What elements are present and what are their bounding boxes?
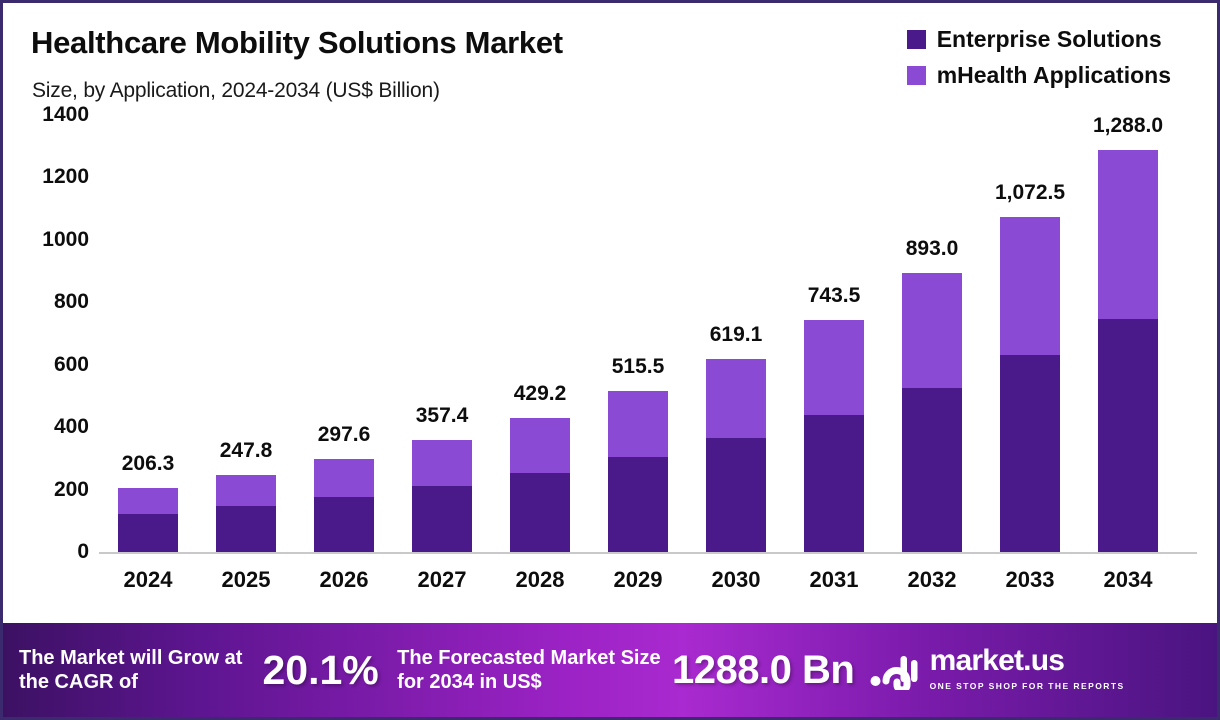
bar-group: 743.5 xyxy=(785,115,883,552)
logo-tagline: ONE STOP SHOP FOR THE REPORTS xyxy=(930,681,1125,691)
bar-group: 357.4 xyxy=(393,115,491,552)
bar-group: 893.0 xyxy=(883,115,981,552)
market-us-bars-icon xyxy=(869,650,921,690)
stacked-bar[interactable] xyxy=(1000,217,1060,552)
y-axis-tick: 0 xyxy=(3,540,89,564)
bar-total-label: 893.0 xyxy=(883,237,981,261)
bar-segment-mhealth-applications[interactable] xyxy=(706,359,766,438)
bar-total-label: 357.4 xyxy=(393,404,491,428)
forecast-size-value: 1288.0 Bn xyxy=(662,648,865,693)
bar-group: 206.3 xyxy=(99,115,197,552)
stacked-bar[interactable] xyxy=(118,488,178,552)
y-axis-tick: 1000 xyxy=(3,228,89,252)
cagr-caption: The Market will Grow at the CAGR of xyxy=(19,646,250,695)
bar-group: 619.1 xyxy=(687,115,785,552)
logo-name: market.us xyxy=(930,644,1065,677)
chart-infographic: Healthcare Mobility Solutions Market Siz… xyxy=(0,0,1220,720)
bar-segment-mhealth-applications[interactable] xyxy=(608,391,668,457)
bar-segment-enterprise-solutions[interactable] xyxy=(510,473,570,552)
bar-total-label: 206.3 xyxy=(99,452,197,476)
stacked-bar[interactable] xyxy=(412,440,472,552)
y-axis-tick: 800 xyxy=(3,290,89,314)
bar-segment-enterprise-solutions[interactable] xyxy=(314,497,374,552)
bar-segment-enterprise-solutions[interactable] xyxy=(608,457,668,552)
bar-total-label: 743.5 xyxy=(785,284,883,308)
bar-total-label: 429.2 xyxy=(491,382,589,406)
bar-segment-enterprise-solutions[interactable] xyxy=(216,506,276,552)
bar-segment-enterprise-solutions[interactable] xyxy=(118,514,178,552)
market-us-wordmark: market.us ONE STOP SHOP FOR THE REPORTS xyxy=(930,646,1217,694)
x-axis-tick: 2031 xyxy=(785,567,883,593)
bar-group: 297.6 xyxy=(295,115,393,552)
x-axis-tick: 2033 xyxy=(981,567,1079,593)
stacked-bar[interactable] xyxy=(902,273,962,552)
x-axis-tick: 2027 xyxy=(393,567,491,593)
bar-segment-mhealth-applications[interactable] xyxy=(1098,150,1158,319)
bar-total-label: 297.6 xyxy=(295,423,393,447)
legend-label-mhealth-applications: mHealth Applications xyxy=(937,62,1171,89)
bar-group: 515.5 xyxy=(589,115,687,552)
cagr-value: 20.1% xyxy=(250,647,391,694)
stacked-bar[interactable] xyxy=(510,418,570,552)
chart-legend: Enterprise Solutions mHealth Application… xyxy=(907,21,1171,93)
bar-group: 429.2 xyxy=(491,115,589,552)
bar-segment-mhealth-applications[interactable] xyxy=(216,475,276,507)
bar-group: 1,072.5 xyxy=(981,115,1079,552)
y-axis-tick: 200 xyxy=(3,478,89,502)
page-title: Healthcare Mobility Solutions Market xyxy=(31,25,563,61)
x-axis-tick: 2030 xyxy=(687,567,785,593)
x-axis-tick: 2026 xyxy=(295,567,393,593)
y-axis-tick: 400 xyxy=(3,415,89,439)
x-axis-tick: 2025 xyxy=(197,567,295,593)
stacked-bar[interactable] xyxy=(314,459,374,552)
bar-segment-enterprise-solutions[interactable] xyxy=(1000,355,1060,552)
bar-segment-mhealth-applications[interactable] xyxy=(510,418,570,473)
y-axis-tick: 1200 xyxy=(3,165,89,189)
footer-banner: The Market will Grow at the CAGR of 20.1… xyxy=(3,623,1217,717)
x-axis-tick: 2028 xyxy=(491,567,589,593)
stacked-bar[interactable] xyxy=(1098,150,1158,552)
bar-segment-mhealth-applications[interactable] xyxy=(902,273,962,388)
bar-group: 1,288.0 xyxy=(1079,115,1177,552)
bar-segment-mhealth-applications[interactable] xyxy=(1000,217,1060,355)
market-us-logo[interactable]: market.us ONE STOP SHOP FOR THE REPORTS xyxy=(869,646,1217,694)
legend-item-mhealth-applications[interactable]: mHealth Applications xyxy=(907,57,1171,93)
bar-segment-enterprise-solutions[interactable] xyxy=(1098,319,1158,552)
bar-total-label: 247.8 xyxy=(197,439,295,463)
bar-total-label: 515.5 xyxy=(589,355,687,379)
y-axis-tick: 1400 xyxy=(3,103,89,127)
bar-group: 247.8 xyxy=(197,115,295,552)
stacked-bar[interactable] xyxy=(216,475,276,552)
bar-segment-enterprise-solutions[interactable] xyxy=(706,438,766,552)
bar-segment-mhealth-applications[interactable] xyxy=(412,440,472,486)
stacked-bar[interactable] xyxy=(804,320,864,552)
x-axis-tick: 2034 xyxy=(1079,567,1177,593)
legend-item-enterprise-solutions[interactable]: Enterprise Solutions xyxy=(907,21,1171,57)
chart-header: Healthcare Mobility Solutions Market Siz… xyxy=(3,3,1217,115)
bar-segment-mhealth-applications[interactable] xyxy=(314,459,374,497)
stacked-bar[interactable] xyxy=(608,391,668,552)
bar-segment-enterprise-solutions[interactable] xyxy=(804,415,864,552)
x-axis-tick: 2032 xyxy=(883,567,981,593)
legend-swatch-mhealth-applications xyxy=(907,66,926,85)
chart-plot-area: 0200400600800100012001400 206.3247.8297.… xyxy=(3,115,1217,603)
legend-swatch-enterprise-solutions xyxy=(907,30,926,49)
bar-segment-mhealth-applications[interactable] xyxy=(804,320,864,415)
x-axis-tick: 2029 xyxy=(589,567,687,593)
chart-subtitle: Size, by Application, 2024-2034 (US$ Bil… xyxy=(32,79,440,103)
bar-segment-enterprise-solutions[interactable] xyxy=(412,486,472,552)
bar-segment-mhealth-applications[interactable] xyxy=(118,488,178,514)
bar-total-label: 1,072.5 xyxy=(981,181,1079,205)
forecast-size-caption: The Forecasted Market Size for 2034 in U… xyxy=(397,646,662,695)
bar-segment-enterprise-solutions[interactable] xyxy=(902,388,962,552)
legend-label-enterprise-solutions: Enterprise Solutions xyxy=(937,26,1162,53)
x-axis-tick: 2024 xyxy=(99,567,197,593)
y-axis-tick: 600 xyxy=(3,353,89,377)
bar-series-container: 206.3247.8297.6357.4429.2515.5619.1743.5… xyxy=(99,115,1197,552)
stacked-bar[interactable] xyxy=(706,359,766,552)
bar-total-label: 1,288.0 xyxy=(1079,114,1177,138)
bar-total-label: 619.1 xyxy=(687,323,785,347)
x-axis-baseline xyxy=(99,552,1197,554)
